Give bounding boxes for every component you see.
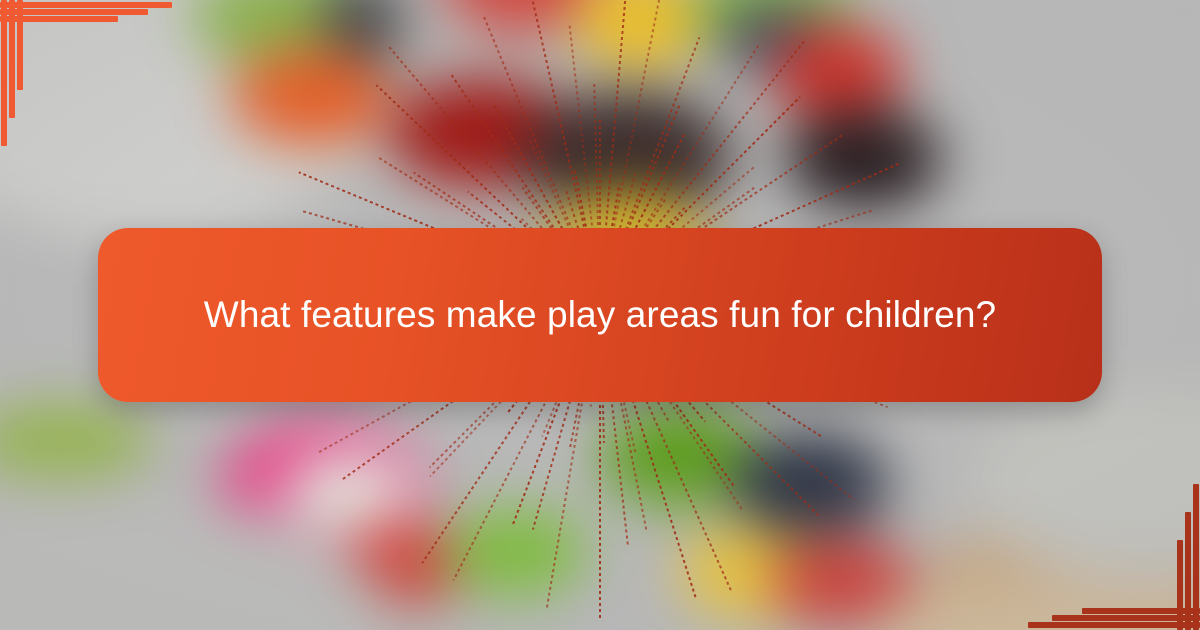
corner-decoration-top-left (0, 0, 190, 160)
corner-rule-vertical-2 (1185, 512, 1191, 630)
corner-rule-horizontal-1 (0, 2, 172, 8)
corner-rule-vertical-1 (1, 0, 7, 146)
corner-rule-horizontal-1 (1028, 622, 1200, 628)
corner-rule-vertical-3 (1177, 540, 1183, 630)
corner-rule-vertical-3 (17, 0, 23, 90)
question-text: What features make play areas fun for ch… (150, 289, 1050, 342)
corner-rule-vertical-2 (9, 0, 15, 118)
question-banner: What features make play areas fun for ch… (98, 228, 1102, 402)
corner-decoration-bottom-right (1010, 450, 1200, 630)
social-card: What features make play areas fun for ch… (0, 0, 1200, 630)
corner-rule-vertical-1 (1193, 484, 1199, 630)
